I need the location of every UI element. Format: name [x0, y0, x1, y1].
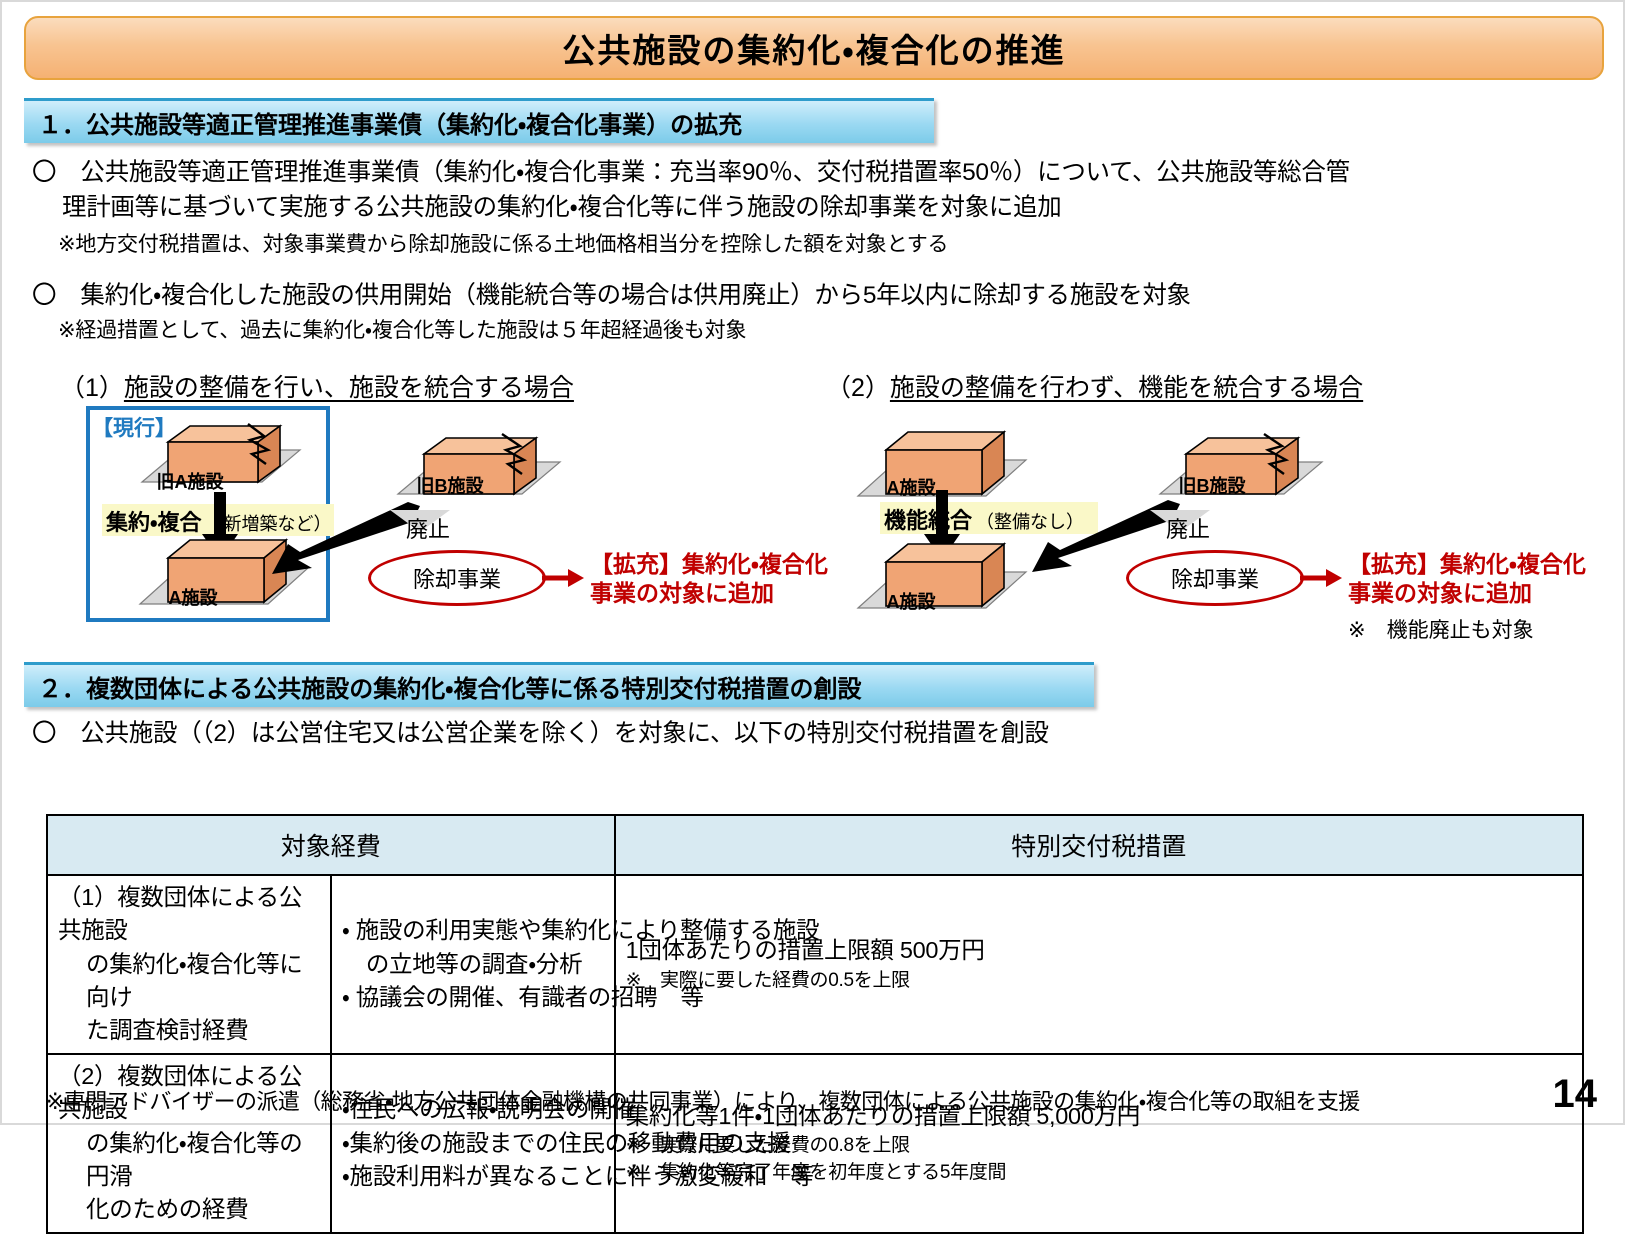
slide-title-banner: 公共施設の集約化・複合化の推進 — [24, 16, 1604, 80]
section-1-heading-text: １．公共施設等適正管理推進事業債（集約化・複合化事業）の拡充 — [24, 105, 742, 140]
table-row-2-name-line-3: 化のための経費 — [58, 1193, 320, 1226]
special-grant-table: 対象経費 特別交付税措置 （1）複数団体による公共施設 の集約化・複合化等に向け… — [46, 814, 1584, 1234]
table-row-2-item-2: ・集約後の施設までの住民の移動費用の支援 — [342, 1127, 604, 1160]
diagram-2-demolition-ellipse: 除却事業 — [1126, 550, 1304, 606]
section-1-bullet-1-note: ※地方交付税措置は、対象事業費から除却施設に係る土地価格相当分を控除した額を対象… — [58, 228, 948, 258]
diagram-2-caption-prefix: （2） — [826, 374, 890, 402]
slide-canvas: 公共施設の集約化・複合化の推進 １．公共施設等適正管理推進事業債（集約化・複合化… — [0, 0, 1625, 1125]
diagram-1-demolition-label: 除却事業 — [413, 562, 501, 594]
diagram-1-new-a-label: A施設 — [132, 584, 254, 610]
table-row-1-item-3: ・ 協議会の開催、有識者の招聘 等 — [342, 981, 604, 1014]
table-row-2-items: ・住民への広報・説明会の開催 ・集約後の施設までの住民の移動費用の支援 ・施設利… — [331, 1054, 615, 1233]
diagram-2-demolition-label: 除却事業 — [1171, 562, 1259, 594]
diagram-2-caption-text: 施設の整備を行わず、機能を統合する場合 — [890, 374, 1363, 402]
table-header-expense: 対象経費 — [47, 815, 615, 875]
table-header-measure: 特別交付税措置 — [615, 815, 1583, 875]
page-number: 14 — [1553, 1072, 1598, 1117]
page-title: 公共施設の集約化・複合化の推進 — [562, 24, 1065, 72]
table-row-2-name: （2）複数団体による公共施設 の集約化・複合化等の円滑 化のための経費 — [47, 1054, 331, 1233]
diagram-2-abolish-label: 廃止 — [1166, 512, 1210, 544]
table-head: 対象経費 特別交付税措置 — [47, 815, 1583, 875]
table-body: （1）複数団体による公共施設 の集約化・複合化等に向け た調査検討経費 ・ 施設… — [47, 875, 1583, 1233]
diagram-1-red-arrow-icon — [542, 565, 584, 591]
diagram-1-old-a-label: 旧A施設 — [132, 468, 248, 494]
table-row-1-measure-note-1: ※ 実際に要した経費の0.5を上限 — [626, 968, 1572, 995]
diagram-2-red-line-2: 事業の対象に追加 — [1348, 580, 1532, 606]
table-row-1-item-1: ・ 施設の利用実態や集約化により整備する施設 — [342, 914, 604, 947]
diagram-1-red-callout: 【拡充】集約化・複合化 事業の対象に追加 — [590, 550, 828, 609]
diagram-2-extra-note: ※ 機能廃止も対象 — [1348, 614, 1534, 644]
diagram-1-demolition-ellipse: 除却事業 — [368, 550, 546, 606]
table-row: （1）複数団体による公共施設 の集約化・複合化等に向け た調査検討経費 ・ 施設… — [47, 875, 1583, 1054]
section-1-bullet-2-line-1: 〇 集約化・複合化した施設の供用開始（機能統合等の場合は供用廃止）から5年以内に… — [32, 280, 1191, 312]
table-row-1-items: ・ 施設の利用実態や集約化により整備する施設 の立地等の調査・分析 ・ 協議会の… — [331, 875, 615, 1054]
table-row-2-item-3: ・施設利用料が異なることに伴う激変緩和 等 — [342, 1160, 604, 1193]
diagram-2-red-line-1: 【拡充】集約化・複合化 — [1348, 551, 1586, 577]
table-row-1-measure: 1団体あたりの措置上限額 500万円 ※ 実際に要した経費の0.5を上限 — [615, 875, 1583, 1054]
diagram-1-red-line-1: 【拡充】集約化・複合化 — [590, 551, 828, 577]
table-row-2-measure-note-1: ※ 実際に要した経費の0.8を上限 — [626, 1133, 1572, 1160]
table-row-1-measure-main: 1団体あたりの措置上限額 500万円 — [626, 934, 1572, 967]
section-1-bullet-2-note: ※経過措置として、過去に集約化・複合化等した施設は５年超経過後も対象 — [58, 314, 746, 344]
table-row-2-name-line-2: の集約化・複合化等の円滑 — [58, 1127, 320, 1194]
diagram-1-caption-text: 施設の整備を行い、施設を統合する場合 — [124, 374, 574, 402]
diagram-1-caption: （1）施設の整備を行い、施設を統合する場合 — [60, 368, 574, 404]
table-row-1-name-line-1: （1）複数団体による公共施設 — [58, 881, 320, 948]
table-row-1-name: （1）複数団体による公共施設 の集約化・複合化等に向け た調査検討経費 — [47, 875, 331, 1054]
table-row-1-name-line-3: た調査検討経費 — [58, 1014, 320, 1047]
section-1-bullet-1-line-1: 〇 公共施設等適正管理推進事業債（集約化・複合化事業：充当率90％、交付税措置率… — [32, 157, 1350, 189]
diagram-1-red-line-2: 事業の対象に追加 — [590, 580, 774, 606]
diagram-2-caption: （2）施設の整備を行わず、機能を統合する場合 — [826, 368, 1363, 404]
diagram-1-consolidation-bold: 集約・複合 — [106, 505, 201, 537]
diagram-2-red-arrow-icon — [1300, 565, 1342, 591]
section-1-bullet-1-line-2: 理計画等に基づいて実施する公共施設の集約化・複合化等に伴う施設の除却事業を対象に… — [62, 192, 1062, 224]
table-row-1-name-line-2: の集約化・複合化等に向け — [58, 948, 320, 1015]
table-row-1-item-2: の立地等の調査・分析 — [342, 948, 604, 981]
diagram-2-red-callout: 【拡充】集約化・複合化 事業の対象に追加 — [1348, 550, 1586, 609]
diagram-2-bottom-a-label: A施設 — [850, 588, 972, 614]
section-2-heading-text: ２．複数団体による公共施設の集約化・複合化等に係る特別交付税措置の創設 — [24, 669, 861, 704]
table-row-2-measure: 集約化等1件・1団体あたりの措置上限額 5,000万円 ※ 実際に要した経費の0… — [615, 1054, 1583, 1233]
diagram-1-caption-prefix: （1） — [60, 374, 124, 402]
diagram-1-abolish-label: 廃止 — [406, 512, 450, 544]
table-header-row: 対象経費 特別交付税措置 — [47, 815, 1583, 875]
section-2-header: ２．複数団体による公共施設の集約化・複合化等に係る特別交付税措置の創設 — [24, 662, 1094, 707]
section-1-header: １．公共施設等適正管理推進事業債（集約化・複合化事業）の拡充 — [24, 98, 934, 143]
footer-note: ※専門アドバイザーの派遣（総務省・地方公共団体金融機構の共同事業）により、複数団… — [46, 1084, 1360, 1116]
section-2-bullet-1: 〇 公共施設（（2）は公営住宅又は公営企業を除く）を対象に、以下の特別交付税措置… — [32, 718, 1049, 750]
table-row: （2）複数団体による公共施設 の集約化・複合化等の円滑 化のための経費 ・住民へ… — [47, 1054, 1583, 1233]
table-row-2-measure-note-2: ※ 集約化等完了年度を初年度とする5年度間 — [626, 1160, 1572, 1187]
